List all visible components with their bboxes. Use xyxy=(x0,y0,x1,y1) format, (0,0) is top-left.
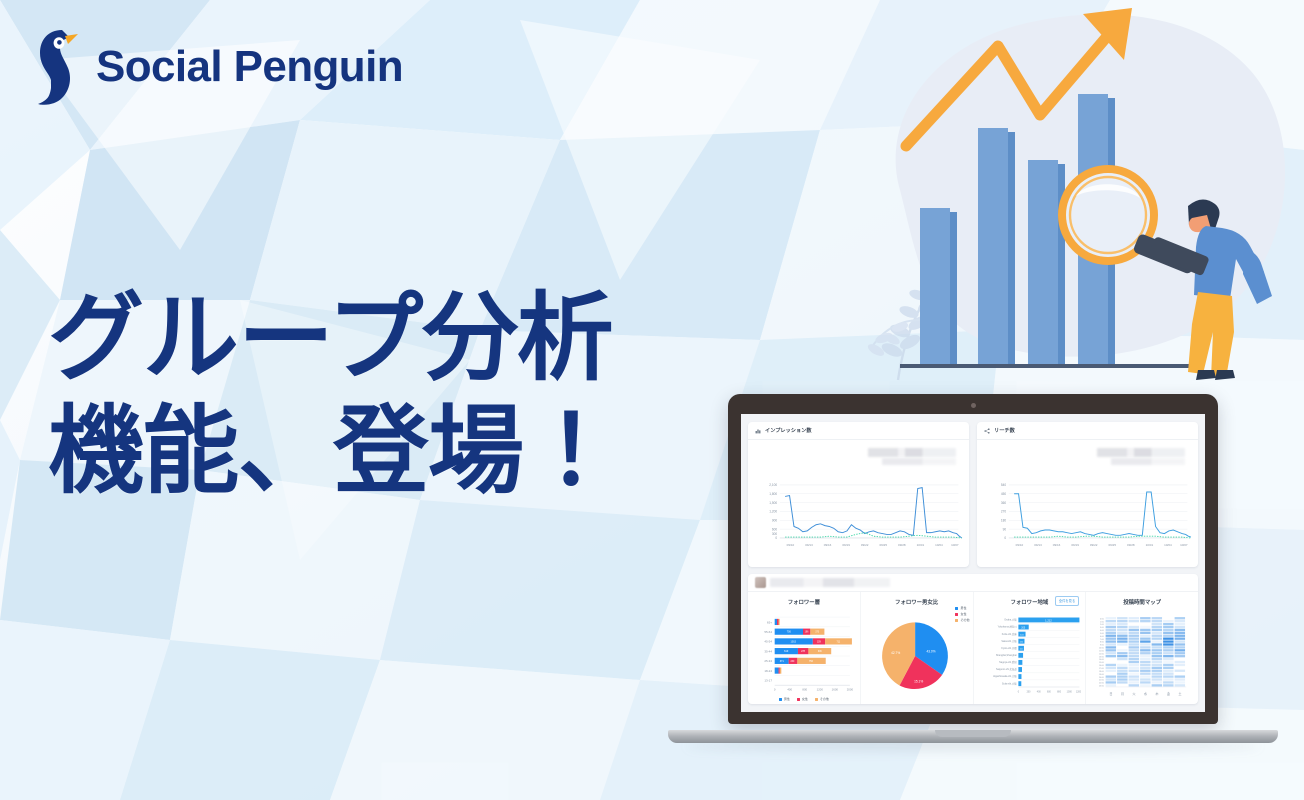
page-title: グループ分析 機能、登場！ xyxy=(48,282,618,509)
reach-line-chart: 540 450 360 270 180 90 0 xyxy=(977,440,1198,567)
card-impressions-title: インプレッション数 xyxy=(765,427,812,434)
svg-text:900: 900 xyxy=(772,519,778,523)
svg-text:619: 619 xyxy=(784,650,789,653)
svg-text:09/19: 09/19 xyxy=(1071,543,1079,547)
svg-text:1:00: 1:00 xyxy=(1100,621,1104,623)
svg-text:09/28: 09/28 xyxy=(898,543,906,547)
follower-region-bar-chart: Osaka,大阪 Yokohama,神奈川 Kobe-shi,兵庫 Sakai-… xyxy=(974,610,1086,702)
svg-text:9:00: 9:00 xyxy=(1100,645,1104,647)
svg-text:09/16: 09/16 xyxy=(824,543,832,547)
svg-text:65+: 65+ xyxy=(767,620,772,624)
svg-text:Nagoya-shi,愛知: Nagoya-shi,愛知 xyxy=(999,660,1017,664)
svg-text:09/28: 09/28 xyxy=(1127,543,1135,547)
penguin-icon xyxy=(26,26,82,108)
svg-text:1,212: 1,212 xyxy=(1045,618,1052,622)
laptop-lid: インプレッション数 xyxy=(728,394,1218,724)
svg-text:20:00: 20:00 xyxy=(1099,677,1104,679)
follower-age-legend: 男性 女性 その他 xyxy=(748,697,860,701)
webcam-icon xyxy=(971,403,976,408)
svg-text:Kyoto-shi,京都: Kyoto-shi,京都 xyxy=(1001,646,1017,650)
svg-text:756: 756 xyxy=(787,631,792,634)
svg-text:200: 200 xyxy=(1026,691,1031,693)
growth-analytics-illustration xyxy=(840,0,1304,390)
svg-text:23:00: 23:00 xyxy=(1099,686,1104,688)
svg-text:7:00: 7:00 xyxy=(1100,639,1104,641)
svg-text:09/13: 09/13 xyxy=(1034,543,1042,547)
svg-text:Kobe-shi,兵庫: Kobe-shi,兵庫 xyxy=(1001,632,1016,636)
legend-item-other: その他 xyxy=(815,697,829,701)
svg-text:2,100: 2,100 xyxy=(769,483,777,487)
svg-text:1200: 1200 xyxy=(1075,691,1081,693)
svg-text:16:00: 16:00 xyxy=(1099,665,1104,667)
svg-text:火: 火 xyxy=(1133,692,1137,696)
svg-text:600: 600 xyxy=(1046,691,1051,693)
hero-banner: Social Penguin グループ分析 機能、登場！ xyxy=(0,0,1304,800)
svg-text:1,200: 1,200 xyxy=(769,510,777,514)
headline-line-1: グループ分析 xyxy=(48,282,618,395)
brand-logo[interactable]: Social Penguin xyxy=(26,26,403,108)
card-follower-insights[interactable]: フォロワー層 65+ 55-64 45-54 35-44 25-3 xyxy=(748,574,1198,704)
svg-text:15:00: 15:00 xyxy=(1099,662,1104,664)
svg-text:Sakai-shi,大阪: Sakai-shi,大阪 xyxy=(1001,639,1017,643)
svg-text:90: 90 xyxy=(1003,527,1007,531)
svg-text:180: 180 xyxy=(1001,519,1007,523)
post-time-heatmap: 0:001:002:003:004:005:006:007:008:009:00… xyxy=(1086,610,1198,702)
svg-text:800: 800 xyxy=(1057,691,1062,693)
card-reach-title: リーチ数 xyxy=(994,427,1015,434)
svg-text:09/25: 09/25 xyxy=(879,543,887,547)
svg-text:1,500: 1,500 xyxy=(769,501,777,505)
headline-line-2: 機能、登場！ xyxy=(48,395,618,508)
svg-text:5:00: 5:00 xyxy=(1100,633,1104,635)
svg-text:55-64: 55-64 xyxy=(764,630,772,634)
svg-text:1,800: 1,800 xyxy=(769,492,777,496)
impressions-line-chart: 2,100 1,800 1,500 1,200 900 600 300 0 xyxy=(748,440,969,567)
svg-text:10:00: 10:00 xyxy=(1099,648,1104,650)
legend-item-female: 女性 xyxy=(797,697,808,701)
svg-text:3:00: 3:00 xyxy=(1100,627,1104,629)
svg-text:14:00: 14:00 xyxy=(1099,659,1104,661)
svg-text:2000: 2000 xyxy=(847,688,854,692)
svg-text:270: 270 xyxy=(1001,510,1007,514)
avatar xyxy=(755,577,766,588)
svg-text:10/04: 10/04 xyxy=(935,543,943,547)
svg-text:1200: 1200 xyxy=(817,688,824,692)
svg-text:09/25: 09/25 xyxy=(1108,543,1116,547)
svg-text:371: 371 xyxy=(780,660,785,663)
bar-chart-icon xyxy=(755,428,761,434)
svg-text:Suita-shi,大阪: Suita-shi,大阪 xyxy=(1001,681,1016,685)
svg-text:月: 月 xyxy=(1121,692,1124,696)
card-impressions[interactable]: インプレッション数 xyxy=(748,422,969,567)
card-reach[interactable]: リーチ数 xyxy=(977,422,1198,567)
svg-text:09/22: 09/22 xyxy=(861,543,869,547)
svg-text:09/16: 09/16 xyxy=(1053,543,1061,547)
laptop-device: インプレッション数 xyxy=(668,388,1278,763)
svg-text:10/01: 10/01 xyxy=(1146,543,1154,547)
svg-text:22:00: 22:00 xyxy=(1099,683,1104,685)
laptop-screen: インプレッション数 xyxy=(741,414,1205,712)
svg-text:1000: 1000 xyxy=(1066,691,1072,693)
svg-text:18:00: 18:00 xyxy=(1099,671,1104,673)
svg-text:09/19: 09/19 xyxy=(842,543,850,547)
svg-text:21:00: 21:00 xyxy=(1099,680,1104,682)
svg-text:2:00: 2:00 xyxy=(1100,624,1104,626)
panel-follower-gender-title: フォロワー男女比 xyxy=(861,598,973,606)
svg-text:13-17: 13-17 xyxy=(764,679,772,683)
svg-text:Sapporo-shi,北海道: Sapporo-shi,北海道 xyxy=(996,667,1017,671)
panel-post-time-map: 投稿時間マップ 0:001:002:003:004:005:006:007:00… xyxy=(1086,592,1198,704)
svg-text:42.7%: 42.7% xyxy=(891,651,900,655)
svg-text:43.0%: 43.0% xyxy=(926,649,935,653)
svg-text:19:00: 19:00 xyxy=(1099,674,1104,676)
svg-text:12:00: 12:00 xyxy=(1099,653,1104,655)
svg-text:540: 540 xyxy=(1001,483,1007,487)
share-icon xyxy=(984,428,990,434)
svg-text:0: 0 xyxy=(774,688,776,692)
svg-text:8:00: 8:00 xyxy=(1100,642,1104,644)
svg-text:13:00: 13:00 xyxy=(1099,656,1104,658)
panel-follower-region: フォロワー地域 全件を見る Osaka,大阪 Yokohama,神奈川 Kobe… xyxy=(974,592,1087,704)
svg-text:6:00: 6:00 xyxy=(1100,636,1104,638)
svg-text:Osaka,大阪: Osaka,大阪 xyxy=(1004,618,1017,622)
svg-text:金: 金 xyxy=(1167,691,1171,696)
svg-text:09/10: 09/10 xyxy=(787,543,795,547)
account-header xyxy=(748,574,1198,592)
svg-text:1015: 1015 xyxy=(791,640,797,643)
panel-follower-age-title: フォロワー層 xyxy=(748,598,860,606)
laptop-base xyxy=(668,730,1278,743)
svg-text:400: 400 xyxy=(1036,691,1041,693)
svg-text:09/10: 09/10 xyxy=(1016,543,1024,547)
legend-item-male: 男性 xyxy=(779,697,790,701)
panel-follower-age: フォロワー層 65+ 55-64 45-54 35-44 25-3 xyxy=(748,592,861,704)
follower-gender-pie-chart: 43.0% 15.1% 42.7% xyxy=(861,610,973,702)
follower-age-bar-chart: 65+ 55-64 45-54 35-44 25-34 18-24 13-17 xyxy=(748,610,860,702)
card-impressions-header: インプレッション数 xyxy=(748,422,969,440)
card-reach-header: リーチ数 xyxy=(977,422,1198,440)
svg-text:Higashiosaka-shi,大阪: Higashiosaka-shi,大阪 xyxy=(993,674,1017,678)
svg-text:木: 木 xyxy=(1156,691,1160,696)
svg-text:土: 土 xyxy=(1179,691,1182,696)
svg-text:0:00: 0:00 xyxy=(1100,618,1104,620)
svg-text:18-24: 18-24 xyxy=(764,669,772,673)
svg-text:400: 400 xyxy=(787,688,792,692)
svg-text:45-54: 45-54 xyxy=(764,640,772,644)
svg-text:0: 0 xyxy=(1017,691,1019,693)
svg-text:1600: 1600 xyxy=(832,688,839,692)
svg-text:360: 360 xyxy=(1001,501,1007,505)
svg-text:600: 600 xyxy=(772,527,778,531)
panel-post-time-map-title: 投稿時間マップ xyxy=(1086,598,1198,606)
svg-text:17:00: 17:00 xyxy=(1099,668,1104,670)
svg-text:日: 日 xyxy=(1110,692,1113,696)
svg-text:10/07: 10/07 xyxy=(1180,543,1188,547)
svg-text:0: 0 xyxy=(1004,536,1006,540)
svg-text:300: 300 xyxy=(772,532,778,536)
svg-text:800: 800 xyxy=(802,688,807,692)
svg-text:450: 450 xyxy=(1001,492,1007,496)
svg-text:10/07: 10/07 xyxy=(951,543,959,547)
panel-follower-gender: フォロワー男女比 男性 女性 xyxy=(861,592,974,704)
svg-text:11:00: 11:00 xyxy=(1099,650,1104,652)
svg-text:0: 0 xyxy=(775,536,777,540)
svg-text:09/22: 09/22 xyxy=(1090,543,1098,547)
svg-text:09/13: 09/13 xyxy=(805,543,813,547)
svg-text:4:00: 4:00 xyxy=(1100,630,1104,632)
svg-text:10/04: 10/04 xyxy=(1164,543,1172,547)
analytics-dashboard: インプレッション数 xyxy=(741,414,1205,712)
svg-text:15.1%: 15.1% xyxy=(914,680,923,684)
region-show-all-button[interactable]: 全件を見る xyxy=(1055,596,1079,606)
svg-text:25-34: 25-34 xyxy=(764,659,772,663)
brand-name: Social Penguin xyxy=(96,45,403,89)
svg-text:Shanghai,Shanghai: Shanghai,Shanghai xyxy=(995,654,1016,657)
svg-text:Yokohama,神奈川: Yokohama,神奈川 xyxy=(997,625,1017,629)
svg-text:10/01: 10/01 xyxy=(917,543,925,547)
svg-text:35-44: 35-44 xyxy=(764,649,772,653)
redacted-account-name xyxy=(770,578,890,587)
svg-text:水: 水 xyxy=(1144,691,1148,696)
